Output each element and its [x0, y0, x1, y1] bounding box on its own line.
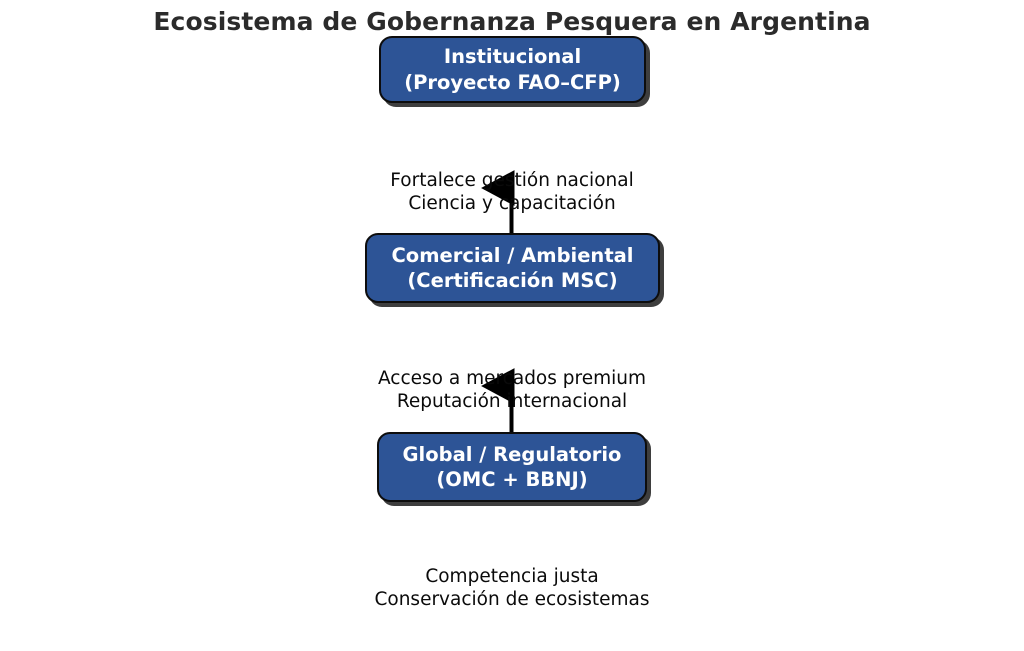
edge-label-middle-line1: Acceso a mercados premium: [0, 367, 1024, 390]
edge-label-acceso-mercados: Acceso a mercados premium Reputación int…: [0, 367, 1024, 414]
node-institucional-line2: (Proyecto FAO–CFP): [404, 70, 621, 95]
node-global-regulatorio[interactable]: Global / Regulatorio (OMC + BBNJ): [377, 432, 647, 502]
edge-label-fortalece-gestion: Fortalece gestión nacional Ciencia y cap…: [0, 169, 1024, 216]
edge-label-bottom-line2: Conservación de ecosistemas: [0, 588, 1024, 611]
edge-label-middle-line2: Reputación internacional: [0, 390, 1024, 413]
node-institucional[interactable]: Institucional (Proyecto FAO–CFP): [379, 36, 646, 103]
node-global-line2: (OMC + BBNJ): [436, 467, 587, 492]
edge-label-bottom-line1: Competencia justa: [0, 565, 1024, 588]
edge-label-competencia-justa: Competencia justa Conservación de ecosis…: [0, 565, 1024, 612]
edge-label-top-line2: Ciencia y capacitación: [0, 192, 1024, 215]
node-global-line1: Global / Regulatorio: [403, 442, 622, 467]
page-title: Ecosistema de Gobernanza Pesquera en Arg…: [0, 7, 1024, 36]
node-comercial-line1: Comercial / Ambiental: [392, 243, 634, 268]
edge-label-top-line1: Fortalece gestión nacional: [0, 169, 1024, 192]
diagram-canvas: Ecosistema de Gobernanza Pesquera en Arg…: [0, 0, 1024, 651]
node-comercial-line2: (Certificación MSC): [407, 268, 617, 293]
node-institucional-line1: Institucional: [444, 44, 581, 69]
node-comercial-ambiental[interactable]: Comercial / Ambiental (Certificación MSC…: [365, 233, 660, 303]
